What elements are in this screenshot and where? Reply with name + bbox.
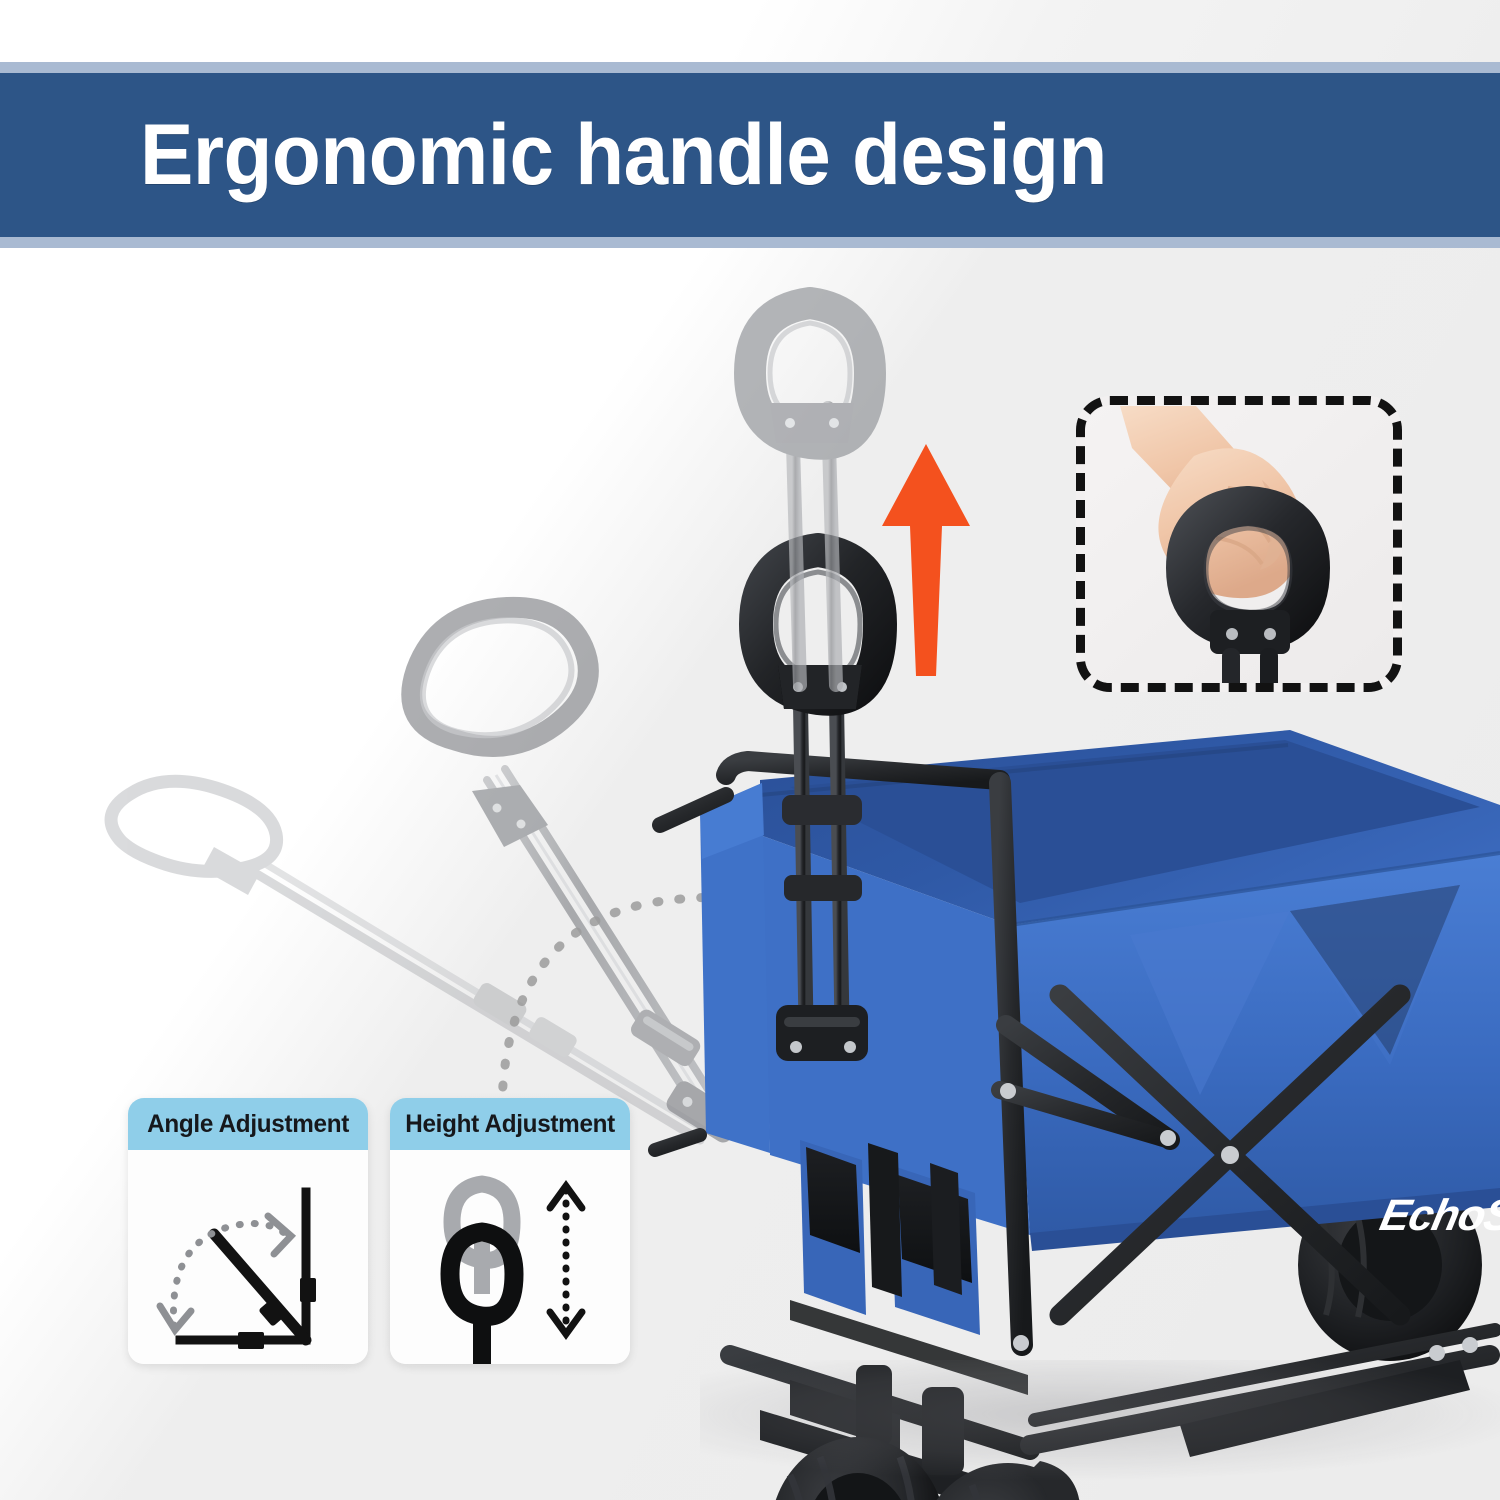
card-height-label: Height Adjustment bbox=[405, 1110, 615, 1139]
hand-grip-inset bbox=[1076, 396, 1402, 692]
feature-cards: Angle Adjustment bbox=[128, 1098, 630, 1364]
card-angle-adjustment[interactable]: Angle Adjustment bbox=[128, 1098, 368, 1364]
card-angle-label: Angle Adjustment bbox=[147, 1110, 349, 1139]
card-height-adjustment[interactable]: Height Adjustment bbox=[390, 1098, 630, 1364]
card-height-body bbox=[390, 1150, 630, 1364]
infographic-page: Ergonomic handle design bbox=[0, 0, 1500, 1500]
height-extend-arrow bbox=[880, 440, 972, 680]
card-angle-header: Angle Adjustment bbox=[128, 1098, 368, 1150]
height-adjustment-icon bbox=[390, 1150, 630, 1364]
page-title: Ergonomic handle design bbox=[140, 112, 1107, 198]
card-height-header: Height Adjustment bbox=[390, 1098, 630, 1150]
floor-shadow bbox=[700, 1360, 1500, 1480]
brand-wordmark: EchoSm bbox=[1376, 1191, 1500, 1239]
header-banner: Ergonomic handle design bbox=[0, 62, 1500, 248]
card-angle-body bbox=[128, 1150, 368, 1364]
angle-adjustment-icon bbox=[128, 1150, 368, 1364]
svg-text:EchoSm: EchoSm bbox=[1376, 1191, 1500, 1239]
ghost-handle-horizontal bbox=[111, 781, 706, 1140]
